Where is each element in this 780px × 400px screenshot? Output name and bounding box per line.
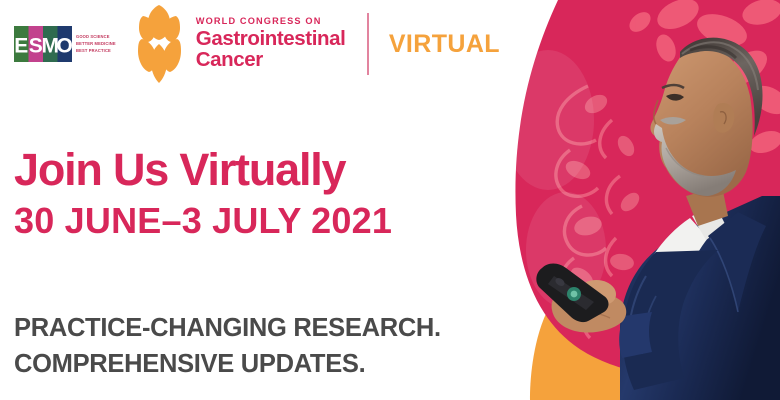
congress-name-line-2: Cancer bbox=[196, 50, 346, 71]
tagline-line-2: COMPREHENSIVE UPDATES. bbox=[14, 346, 441, 382]
esmo-tagline: GOOD SCIENCE BETTER MEDICINE BEST PRACTI… bbox=[76, 34, 116, 54]
logo-divider bbox=[367, 13, 368, 75]
promo-banner: E S M O GOOD SCIENCE BETTER MEDICINE BES… bbox=[0, 0, 780, 400]
congress-wordmark: WORLD CONGRESS ON Gastrointestinal Cance… bbox=[196, 17, 346, 71]
artwork-illustration bbox=[470, 0, 780, 400]
logo-bar: E S M O GOOD SCIENCE BETTER MEDICINE BES… bbox=[14, 8, 500, 80]
wheat-ear-icon bbox=[134, 3, 186, 85]
esmo-lettermark-icon: E S M O bbox=[14, 26, 72, 62]
esmo-tagline-line-1: GOOD SCIENCE bbox=[76, 34, 116, 40]
congress-kicker: WORLD CONGRESS ON bbox=[196, 17, 346, 26]
congress-name-line-1: Gastrointestinal bbox=[196, 29, 346, 50]
event-dates: 30 JUNE–3 JULY 2021 bbox=[14, 203, 392, 239]
headline-title: Join Us Virtually bbox=[14, 147, 345, 192]
tagline-line-1: PRACTICE-CHANGING RESEARCH. bbox=[14, 310, 441, 346]
wheat-icon-wrap bbox=[134, 3, 186, 85]
esmo-tagline-line-2: BETTER MEDICINE bbox=[76, 41, 116, 47]
virtual-label: VIRTUAL bbox=[389, 32, 500, 57]
esmo-logo[interactable]: E S M O GOOD SCIENCE BETTER MEDICINE BES… bbox=[14, 26, 116, 62]
artwork-panel bbox=[470, 0, 780, 400]
svg-text:E: E bbox=[14, 35, 28, 58]
tagline-block: PRACTICE-CHANGING RESEARCH. COMPREHENSIV… bbox=[14, 310, 441, 382]
svg-text:O: O bbox=[57, 35, 72, 58]
esmo-tagline-line-3: BEST PRACTICE bbox=[76, 48, 116, 54]
